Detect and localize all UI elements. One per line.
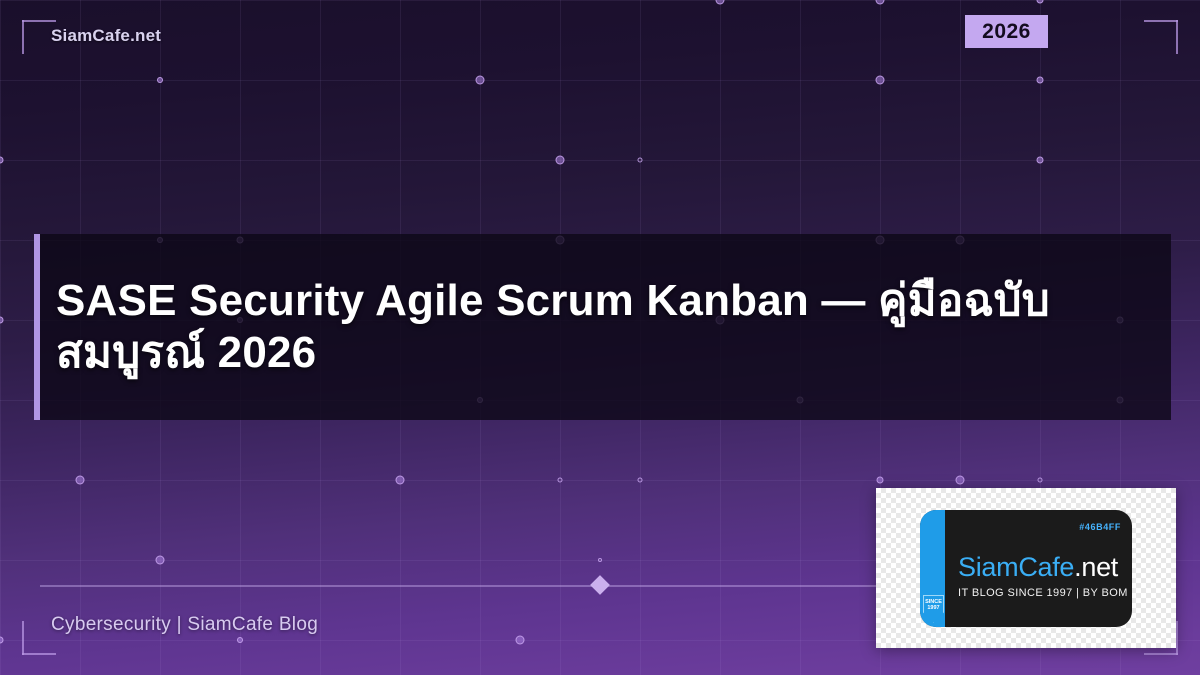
logo-tagline: IT BLOG SINCE 1997 | BY BOM: [958, 587, 1128, 599]
decorative-dot: [76, 476, 85, 485]
site-brand-label: SiamCafe.net: [51, 26, 161, 46]
page-title: SASE Security Agile Scrum Kanban — คู่มื…: [56, 275, 1096, 379]
bracket-arm-vertical: [22, 20, 24, 54]
bracket-arm-vertical: [22, 621, 24, 655]
decorative-dot: [156, 556, 165, 565]
bracket-arm-horizontal: [1144, 653, 1178, 655]
bracket-arm-horizontal: [22, 20, 56, 22]
year-badge: 2026: [965, 15, 1048, 48]
footer-category-label: Cybersecurity | SiamCafe Blog: [51, 614, 318, 636]
title-accent-bar: [34, 234, 40, 420]
decorative-dot: [956, 476, 965, 485]
logo-card: #46B4FF SiamCafe.net IT BLOG SINCE 1997 …: [876, 488, 1176, 648]
decorative-dot: [876, 0, 885, 5]
shield-line-one: SINCE: [925, 599, 942, 606]
bracket-arm-vertical: [1176, 621, 1178, 655]
title-panel: SASE Security Agile Scrum Kanban — คู่มื…: [34, 234, 1171, 420]
decorative-dot: [1037, 77, 1044, 84]
decorative-dot: [556, 156, 565, 165]
decorative-dot: [396, 476, 405, 485]
decorative-dot: [157, 77, 163, 83]
decorative-dot: [516, 636, 525, 645]
diamond-ornament-icon: [590, 575, 610, 595]
decorative-dot: [1038, 478, 1043, 483]
bracket-arm-horizontal: [22, 653, 56, 655]
decorative-dot: [0, 317, 4, 324]
decorative-dot: [598, 558, 602, 562]
poster-canvas: SiamCafe.net 2026 SASE Security Agile Sc…: [0, 0, 1200, 675]
decorative-dot: [558, 478, 563, 483]
decorative-dot: [638, 158, 643, 163]
bracket-arm-vertical: [1176, 20, 1178, 54]
decorative-dot: [1037, 0, 1044, 4]
bracket-arm-horizontal: [1144, 20, 1178, 22]
decorative-dot: [0, 157, 4, 164]
decorative-dot: [1037, 157, 1044, 164]
year-badge-label: 2026: [982, 20, 1031, 44]
shield-line-two: 1997: [927, 605, 939, 612]
decorative-dot: [716, 0, 725, 5]
decorative-dot: [638, 478, 643, 483]
logo-inner-panel: #46B4FF SiamCafe.net IT BLOG SINCE 1997 …: [920, 510, 1132, 627]
logo-wordmark-primary: SiamCafe: [958, 552, 1074, 582]
decorative-dot: [876, 76, 885, 85]
decorative-dot: [476, 76, 485, 85]
logo-wordmark: SiamCafe.net: [958, 552, 1118, 583]
decorative-dot: [877, 477, 884, 484]
decorative-dot: [0, 637, 4, 644]
logo-hex-code-label: #46B4FF: [1079, 522, 1121, 532]
decorative-dot: [237, 637, 243, 643]
logo-wordmark-suffix: .net: [1074, 552, 1118, 582]
